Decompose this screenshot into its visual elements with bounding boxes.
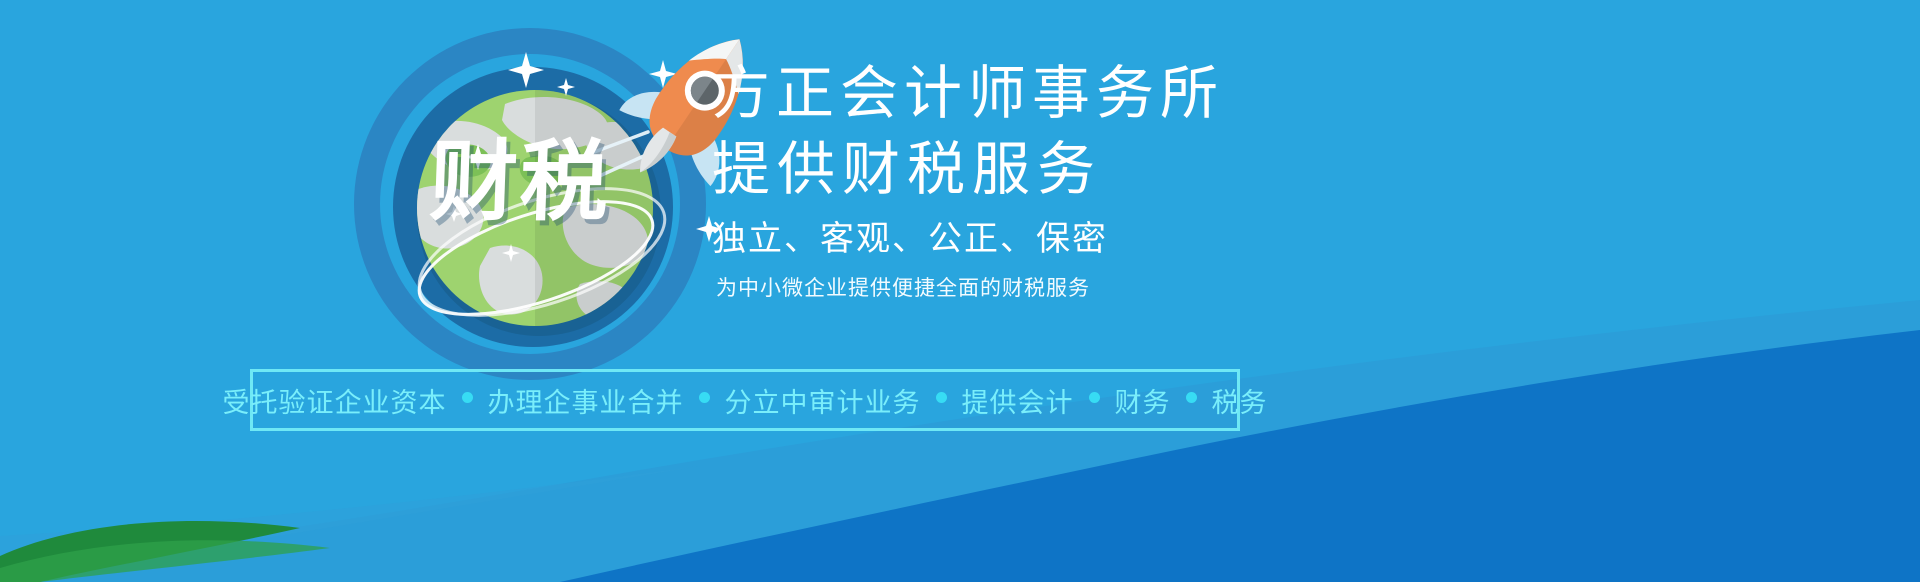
service-item: 办理企事业合并 xyxy=(486,381,686,420)
service-separator-dot xyxy=(462,392,473,403)
service-separator-dot xyxy=(699,392,710,403)
headline-line-3: 独立、客观、公正、保密 xyxy=(712,212,1492,266)
service-item: 受托验证企业资本 xyxy=(221,381,449,420)
headline-block: 方正会计师事务所 提供财税服务 独立、客观、公正、保密 为中小微企业提供便捷全面… xyxy=(712,56,1492,306)
service-separator-dot xyxy=(1089,392,1100,403)
globe-badge-text: 财税 xyxy=(398,138,641,226)
service-item: 提供会计 xyxy=(960,381,1076,420)
service-item: 税务 xyxy=(1210,381,1270,420)
headline-line-2: 提供财税服务 xyxy=(712,132,1492,208)
promo-banner: 财税 方正会计师事务所 提供财税服务 独立、客观、公正、保密 为中小微企业提供便… xyxy=(0,0,1920,582)
service-item: 分立中审计业务 xyxy=(723,381,923,420)
globe-logo: 财税 xyxy=(330,8,750,388)
headline-line-1: 方正会计师事务所 xyxy=(712,56,1492,132)
headline-line-4: 为中小微企业提供便捷全面的财税服务 xyxy=(716,272,1492,306)
services-list: 受托验证企业资本办理企事业合并分立中审计业务提供会计财务税务 xyxy=(221,381,1270,420)
services-box: 受托验证企业资本办理企事业合并分立中审计业务提供会计财务税务 xyxy=(250,369,1240,431)
service-item: 财务 xyxy=(1113,381,1173,420)
service-separator-dot xyxy=(1186,392,1197,403)
service-separator-dot xyxy=(936,392,947,403)
